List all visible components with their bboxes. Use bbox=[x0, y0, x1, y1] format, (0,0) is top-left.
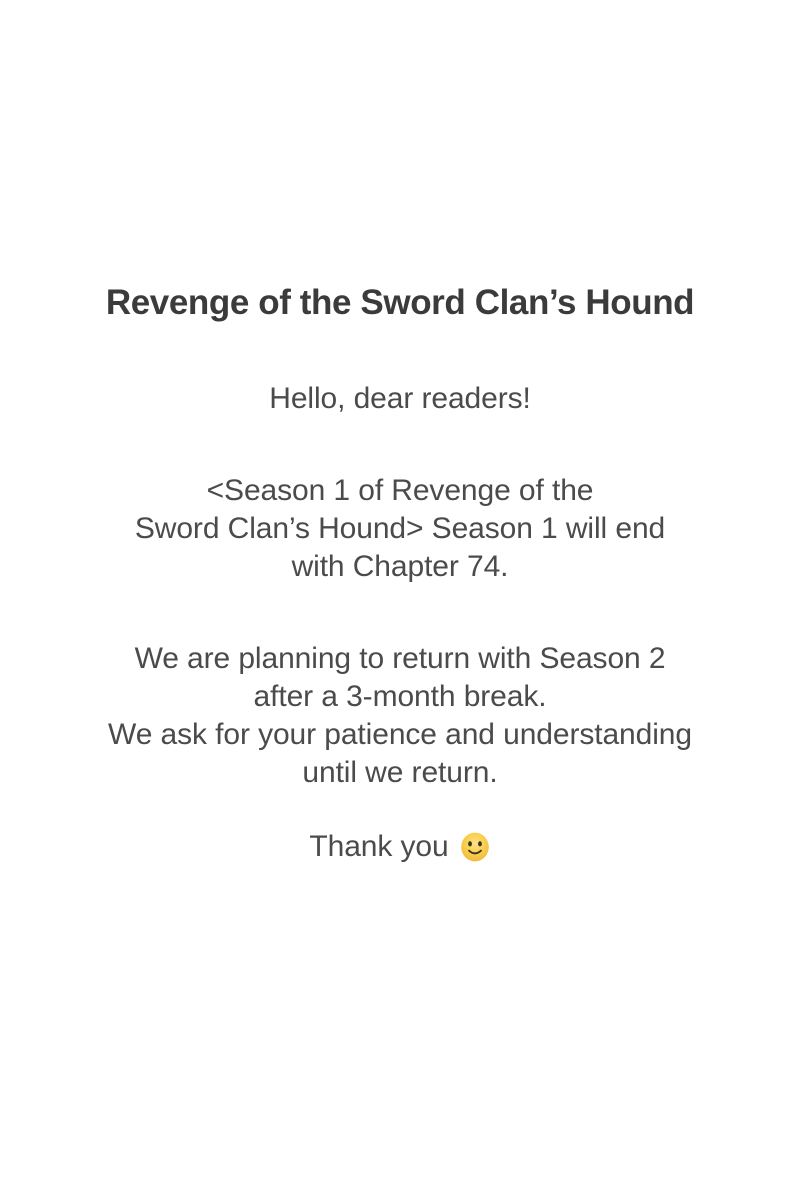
page-title: Revenge of the Sword Clan’s Hound bbox=[0, 281, 800, 325]
closing-paragraph: Thank you bbox=[0, 828, 800, 866]
greeting-line: Hello, dear readers! bbox=[0, 380, 800, 418]
greeting-paragraph: Hello, dear readers! bbox=[0, 380, 800, 418]
season-end-paragraph: <Season 1 of Revenge of the Sword Clan’s… bbox=[0, 472, 800, 586]
announcement-body: Hello, dear readers! <Season 1 of Reveng… bbox=[0, 380, 800, 866]
hiatus-line-3: We ask for your patience and understandi… bbox=[0, 716, 800, 754]
hiatus-paragraph: We are planning to return with Season 2 … bbox=[0, 640, 800, 792]
paragraph-spacer bbox=[0, 586, 800, 640]
hiatus-line-2: after a 3-month break. bbox=[0, 678, 800, 716]
hiatus-line-1: We are planning to return with Season 2 bbox=[0, 640, 800, 678]
season-end-line-2: Sword Clan’s Hound> Season 1 will end bbox=[0, 510, 800, 548]
season-end-line-3: with Chapter 74. bbox=[0, 548, 800, 586]
announcement-page: Revenge of the Sword Clan’s Hound Hello,… bbox=[0, 0, 800, 1191]
paragraph-spacer bbox=[0, 418, 800, 472]
season-end-line-1: <Season 1 of Revenge of the bbox=[0, 472, 800, 510]
slightly-smiling-face-icon bbox=[459, 831, 491, 863]
hiatus-line-4: until we return. bbox=[0, 754, 800, 792]
thank-you-line: Thank you bbox=[309, 828, 490, 866]
thank-you-text: Thank you bbox=[309, 828, 448, 866]
paragraph-spacer bbox=[0, 792, 800, 828]
